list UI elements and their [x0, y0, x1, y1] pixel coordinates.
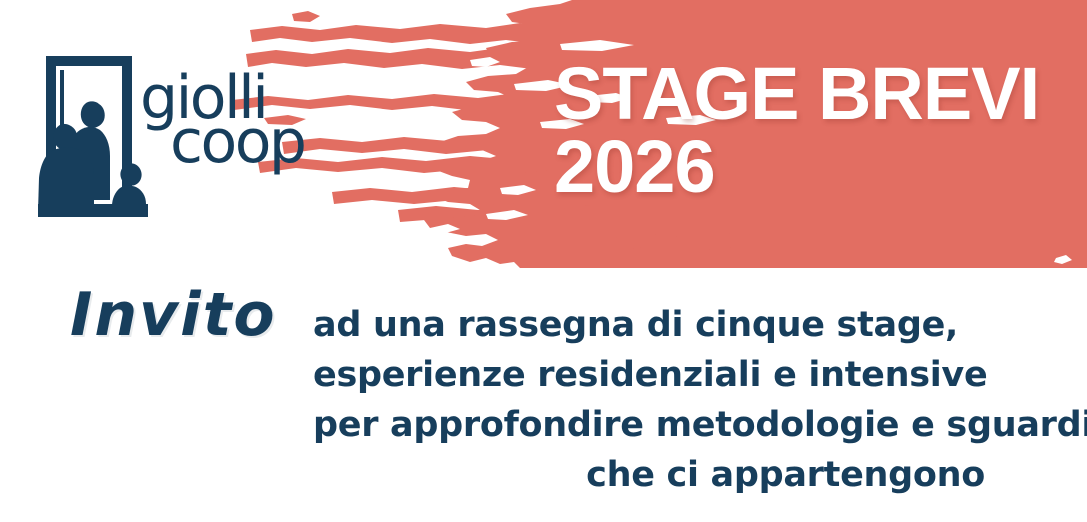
- header-title-line1: STAGE BREVI: [554, 58, 1074, 131]
- invito-heading: Invito: [70, 285, 277, 345]
- invitation-line-4: che ci appartengono: [313, 450, 985, 500]
- invitation-line-2: esperienze residenziali e intensive: [313, 350, 985, 400]
- logo-wordmark: giolli coop: [140, 68, 310, 198]
- giolli-coop-logo: giolli coop: [36, 52, 296, 222]
- header-title: STAGE BREVI 2026: [554, 58, 1074, 203]
- invitation-body: ad una rassegna di cinque stage, esperie…: [313, 300, 985, 500]
- poster-canvas: STAGE BREVI 2026 giolli coop Invi: [0, 0, 1087, 522]
- header-title-line2: 2026: [554, 131, 1074, 204]
- invitation-line-3: per approfondire metodologie e sguardi: [313, 400, 985, 450]
- invitation-line-1: ad una rassegna di cinque stage,: [313, 300, 985, 350]
- logo-word-coop: coop: [170, 112, 305, 172]
